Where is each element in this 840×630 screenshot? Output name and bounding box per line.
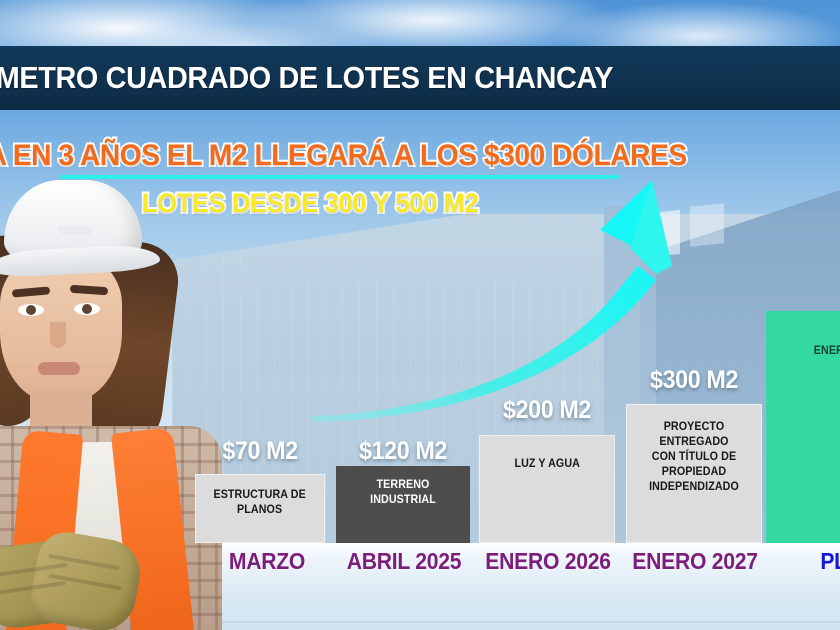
bar-1[interactable]: ESTRUCTURA DEPLANOS	[195, 474, 325, 543]
bar-description-line: PLANOS	[214, 503, 306, 518]
bar-description-line: PROYECTO ENTREGADO	[637, 420, 750, 450]
axis-label-line: PLUS	[791, 548, 840, 575]
worker-pupil-left	[26, 305, 36, 315]
bar-description: TERRENO INDUSTRIAL	[341, 478, 466, 508]
bar-description-line: TERRENO INDUSTRIAL	[347, 478, 459, 508]
bar-5[interactable]: ENERO 2	[766, 311, 840, 543]
page-title: R DEL METRO CUADRADO DE LOTES EN CHANCAY	[0, 60, 613, 96]
axis-label-line-2: RE	[791, 575, 840, 602]
bar-description-line: INDEPENDIZADO	[637, 480, 750, 495]
bar-description-line: LUZ Y AGUA	[514, 457, 580, 472]
bar-label-wrap: PROYECTO ENTREGADOCON TÍTULO DEPROPIEDAD…	[626, 404, 762, 543]
bar-price-label: $120 M2	[341, 437, 466, 466]
bar-description-line: PROPIEDAD	[637, 465, 750, 480]
bar-label-wrap: TERRENO INDUSTRIAL	[336, 466, 470, 543]
bar-description: PROYECTO ENTREGADOCON TÍTULO DEPROPIEDAD…	[631, 420, 757, 495]
bar-label-wrap: ENERO 2	[766, 311, 840, 543]
bar-4[interactable]: PROYECTO ENTREGADOCON TÍTULO DEPROPIEDAD…	[626, 404, 762, 543]
axis-label-line: ENERO 2027	[626, 548, 764, 575]
bar-price-label: $70 M2	[200, 437, 321, 466]
bar-3[interactable]: LUZ Y AGUA	[479, 435, 615, 543]
bar-description: ENERO 2	[808, 344, 840, 359]
bar-description-line: ENERO 2	[814, 344, 840, 359]
subtitle-line-1: SVALIA EN 3 AÑOS EL M2 LLEGARÁ A LOS $30…	[0, 139, 687, 173]
axis-label-4: ENERO 2027	[626, 548, 764, 575]
axis-label-line: ENERO 2026	[479, 548, 617, 575]
bar-label-wrap: LUZ Y AGUA	[479, 435, 615, 543]
infographic-canvas: R DEL METRO CUADRADO DE LOTES EN CHANCAY…	[0, 0, 840, 630]
axis-label-3: ENERO 2026	[479, 548, 617, 575]
worker-mouth	[38, 362, 80, 375]
worker-hard-hat-ridge	[58, 226, 92, 235]
worker-photo	[0, 176, 222, 630]
axis-label-5: PLUSRE	[791, 548, 840, 602]
title-banner: R DEL METRO CUADRADO DE LOTES EN CHANCAY	[0, 46, 840, 110]
bar-label-wrap: ESTRUCTURA DEPLANOS	[195, 474, 325, 543]
bar-price-label: $300 M2	[631, 366, 757, 395]
axis-label-1: MARZO	[201, 548, 333, 575]
bar-description-line: ESTRUCTURA DE	[214, 488, 306, 503]
axis-label-2: ABRIL 2025	[336, 548, 472, 575]
axis-label-line: MARZO	[201, 548, 333, 575]
axis-label-line: ABRIL 2025	[336, 548, 472, 575]
worker-nose	[50, 322, 66, 348]
bar-description-line: CON TÍTULO DE	[637, 450, 750, 465]
bar-description: ESTRUCTURA DEPLANOS	[207, 488, 312, 518]
bar-description: LUZ Y AGUA	[508, 457, 587, 472]
bar-2[interactable]: TERRENO INDUSTRIAL	[336, 466, 470, 543]
worker-pupil-right	[82, 304, 92, 314]
bar-price-label: $200 M2	[484, 396, 610, 425]
